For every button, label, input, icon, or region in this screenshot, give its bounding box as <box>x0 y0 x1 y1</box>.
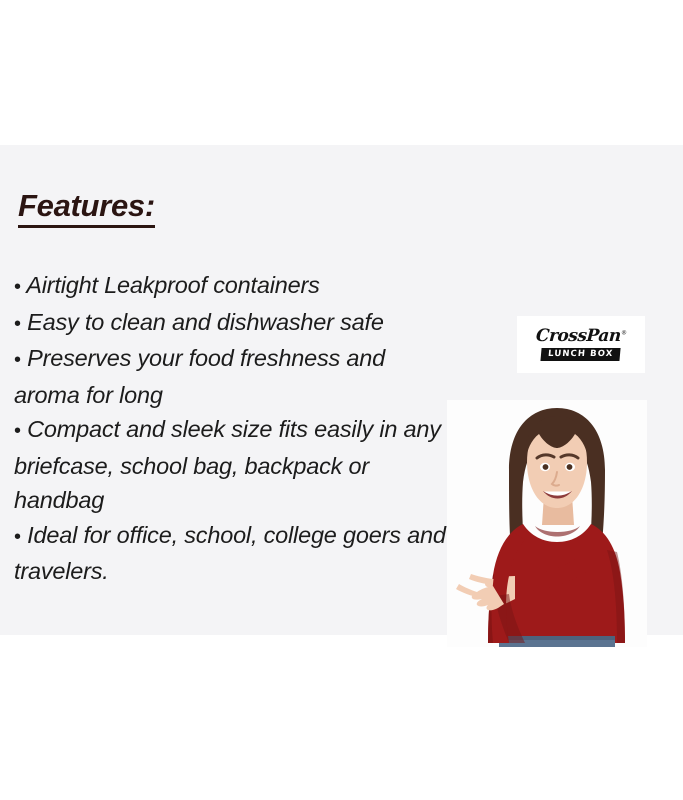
brand-wordmark-text: CrossPan <box>535 326 621 346</box>
bullet-icon: • <box>14 276 21 298</box>
brand-tagline: LUNCH BOX <box>541 348 621 361</box>
brand-logo: CrossPan® LUNCH BOX <box>517 316 645 373</box>
bullet-icon: • <box>14 420 21 442</box>
bullet-icon: • <box>14 313 21 335</box>
brand-wordmark: CrossPan® <box>535 328 626 345</box>
list-item-label: Compact and sleek size fits easily in an… <box>14 416 441 513</box>
model-photo <box>447 400 647 647</box>
list-item: • Easy to clean and dishwasher safe <box>14 305 454 342</box>
list-item-label: Ideal for office, school, college goers … <box>14 522 446 585</box>
registered-trademark-icon: ® <box>621 329 627 336</box>
list-item-label: Easy to clean and dishwasher safe <box>27 309 384 335</box>
list-item: • Preserves your food freshness and arom… <box>14 341 454 412</box>
page-title: Features: <box>18 190 155 228</box>
woman-pointing-illustration <box>447 400 647 647</box>
list-item: • Ideal for office, school, college goer… <box>14 518 454 589</box>
features-list: • Airtight Leakproof containers • Easy t… <box>14 268 454 589</box>
bullet-icon: • <box>14 526 21 548</box>
bullet-icon: • <box>14 349 21 371</box>
list-item: • Compact and sleek size fits easily in … <box>14 412 454 518</box>
features-panel: Features: • Airtight Leakproof container… <box>0 145 683 635</box>
list-item: • Airtight Leakproof containers <box>14 268 454 305</box>
list-item-label: Preserves your food freshness and aroma … <box>14 345 385 408</box>
list-item-label: Airtight Leakproof containers <box>26 272 319 298</box>
